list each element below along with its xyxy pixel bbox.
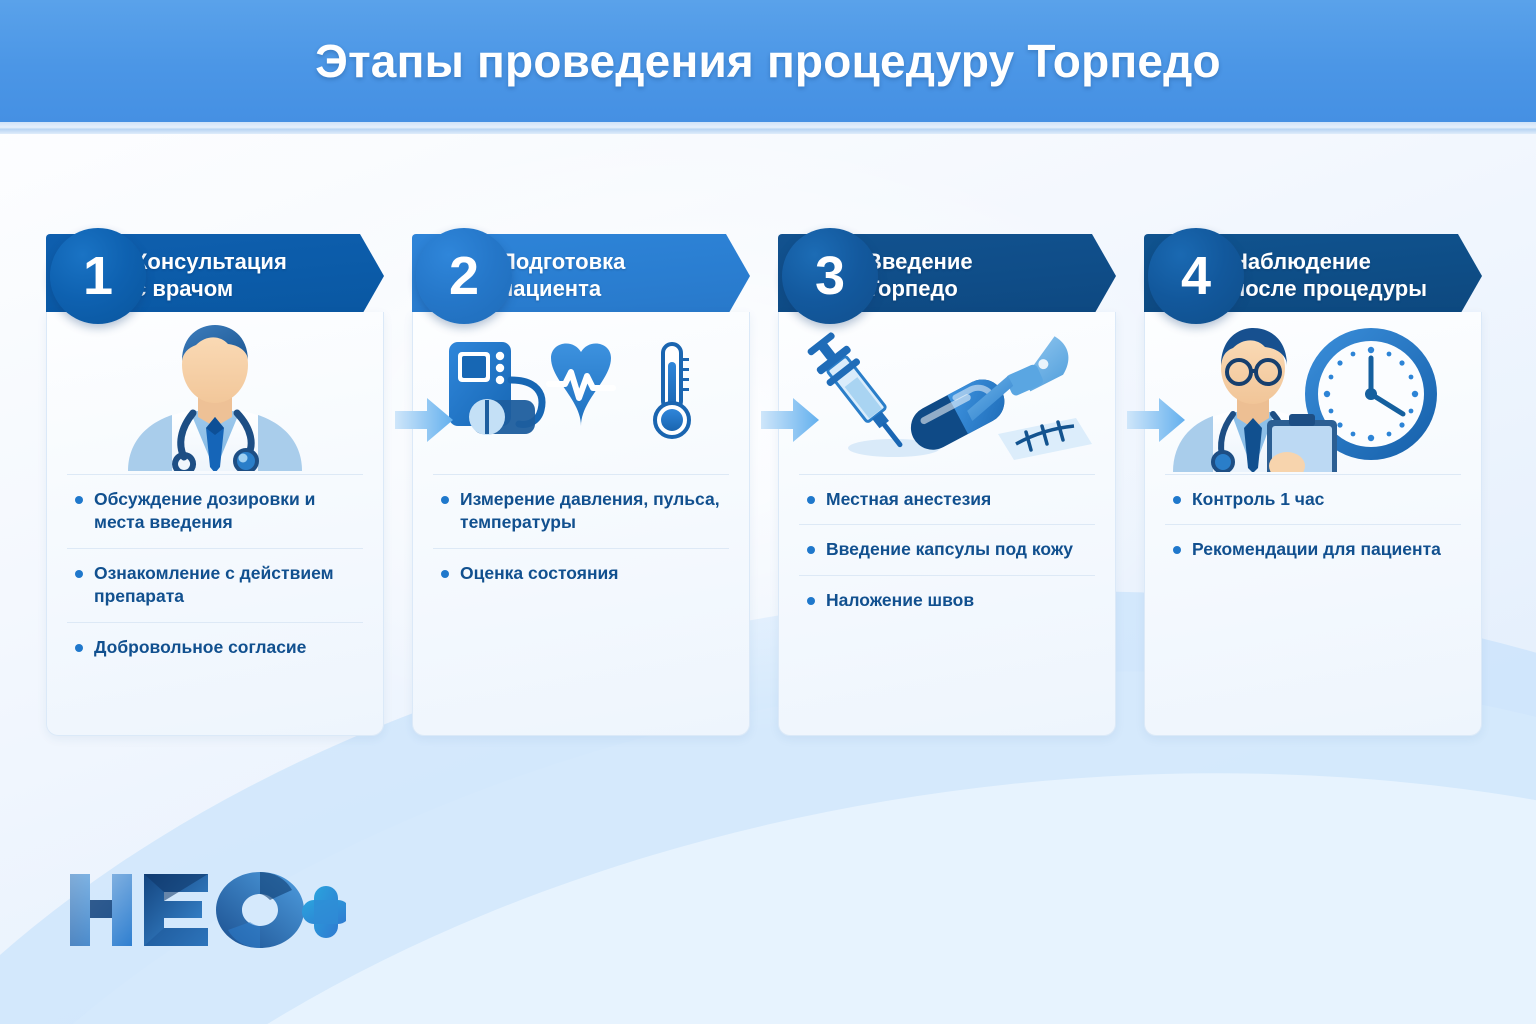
step-4-icon-area — [1145, 312, 1481, 474]
list-item: Измерение давления, пульса, температуры — [433, 474, 729, 548]
list-item: Добровольное согласие — [67, 622, 363, 672]
steps-container: Консультация с врачом 1 — [46, 228, 1490, 738]
list-item: Ознакомление с действием препарата — [67, 548, 363, 622]
flow-arrow-1-to-2 — [395, 398, 453, 442]
bullet-dot-icon — [75, 496, 83, 504]
list-item: Оценка состояния — [433, 548, 729, 598]
step-card-4[interactable]: Наблюдение после процедуры 4 — [1144, 228, 1482, 738]
step-4-number: 4 — [1148, 228, 1244, 324]
bullet-dot-icon — [807, 546, 815, 554]
step-1-title: Консультация с врачом — [134, 249, 287, 303]
vitals-monitor-heart-thermometer-icon — [441, 336, 721, 456]
list-item: Контроль 1 час — [1165, 474, 1461, 524]
header-divider — [0, 122, 1536, 134]
step-1-bullets: Обсуждение дозировки и места введения Оз… — [47, 474, 383, 672]
step-card-3[interactable]: Введение Торпедо 3 — [778, 228, 1116, 738]
list-item: Наложение швов — [799, 575, 1095, 625]
step-2-icon-area — [413, 312, 749, 474]
step-2-title: Подготовка пациента — [500, 249, 625, 303]
list-item: Рекомендации для пациента — [1165, 524, 1461, 574]
step-3-number: 3 — [782, 228, 878, 324]
doctor-stethoscope-icon — [110, 321, 320, 471]
bullet-dot-icon — [441, 496, 449, 504]
bullet-dot-icon — [1173, 496, 1181, 504]
bullet-dot-icon — [807, 496, 815, 504]
list-item: Введение капсулы под кожу — [799, 524, 1095, 574]
step-4-bullets: Контроль 1 час Рекомендации для пациента — [1145, 474, 1481, 575]
page-header: Этапы проведения процедуру Торпедо — [0, 0, 1536, 122]
bullet-dot-icon — [1173, 546, 1181, 554]
bullet-dot-icon — [441, 570, 449, 578]
step-2-card-body: Измерение давления, пульса, температуры … — [412, 312, 750, 736]
bullet-dot-icon — [75, 644, 83, 652]
bullet-dot-icon — [75, 570, 83, 578]
list-item: Обсуждение дозировки и места введения — [67, 474, 363, 548]
step-1-icon-area — [47, 312, 383, 474]
flow-arrow-2-to-3 — [761, 398, 819, 442]
syringe-capsule-scalpel-icon — [802, 326, 1092, 466]
list-item: Местная анестезия — [799, 474, 1095, 524]
doctor-clipboard-clock-icon — [1163, 320, 1463, 472]
step-3-icon-area — [779, 312, 1115, 474]
neo-plus-logo[interactable] — [66, 866, 346, 952]
step-card-1[interactable]: Консультация с врачом 1 — [46, 228, 384, 738]
step-1-card-body: Обсуждение дозировки и места введения Оз… — [46, 312, 384, 736]
step-card-2[interactable]: Подготовка пациента 2 — [412, 228, 750, 738]
step-3-card-body: Местная анестезия Введение капсулы под к… — [778, 312, 1116, 736]
step-3-title: Введение Торпедо — [866, 249, 973, 303]
step-2-number: 2 — [416, 228, 512, 324]
step-1-number: 1 — [50, 228, 146, 324]
step-4-title: Наблюдение после процедуры — [1232, 249, 1427, 303]
bullet-dot-icon — [807, 597, 815, 605]
step-2-bullets: Измерение давления, пульса, температуры … — [413, 474, 749, 598]
flow-arrow-3-to-4 — [1127, 398, 1185, 442]
page-title: Этапы проведения процедуру Торпедо — [315, 34, 1221, 88]
step-3-bullets: Местная анестезия Введение капсулы под к… — [779, 474, 1115, 625]
step-4-card-body: Контроль 1 час Рекомендации для пациента — [1144, 312, 1482, 736]
